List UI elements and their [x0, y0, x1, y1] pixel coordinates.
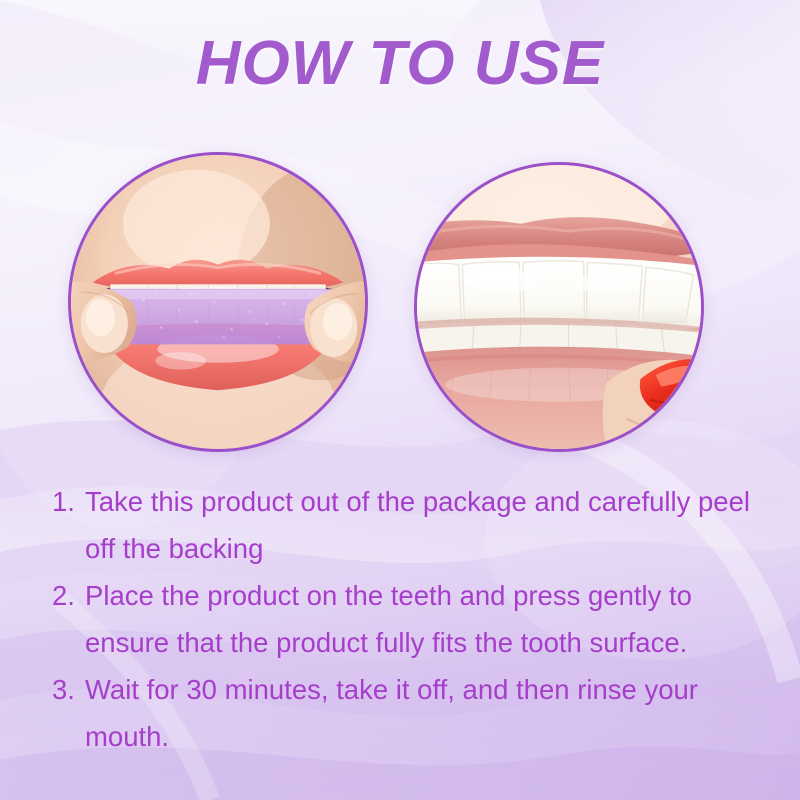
step-number: 3. [52, 666, 85, 713]
step-number: 2. [52, 572, 85, 619]
list-item: 2. Place the product on the teeth and pr… [52, 572, 762, 666]
instruction-list: 1. Take this product out of the package … [52, 478, 762, 760]
page-title: HOW TO USE [0, 28, 800, 99]
step-text: Wait for 30 minutes, take it off, and th… [85, 666, 762, 760]
list-item: 1. Take this product out of the package … [52, 478, 762, 572]
photo-strip-application [68, 152, 368, 452]
photo-white-teeth-result [414, 162, 704, 452]
list-item: 3. Wait for 30 minutes, take it off, and… [52, 666, 762, 760]
step-text: Take this product out of the package and… [85, 478, 762, 572]
step-text: Place the product on the teeth and press… [85, 572, 762, 666]
how-to-use-poster: HOW TO USE [0, 0, 800, 800]
step-number: 1. [52, 478, 85, 525]
